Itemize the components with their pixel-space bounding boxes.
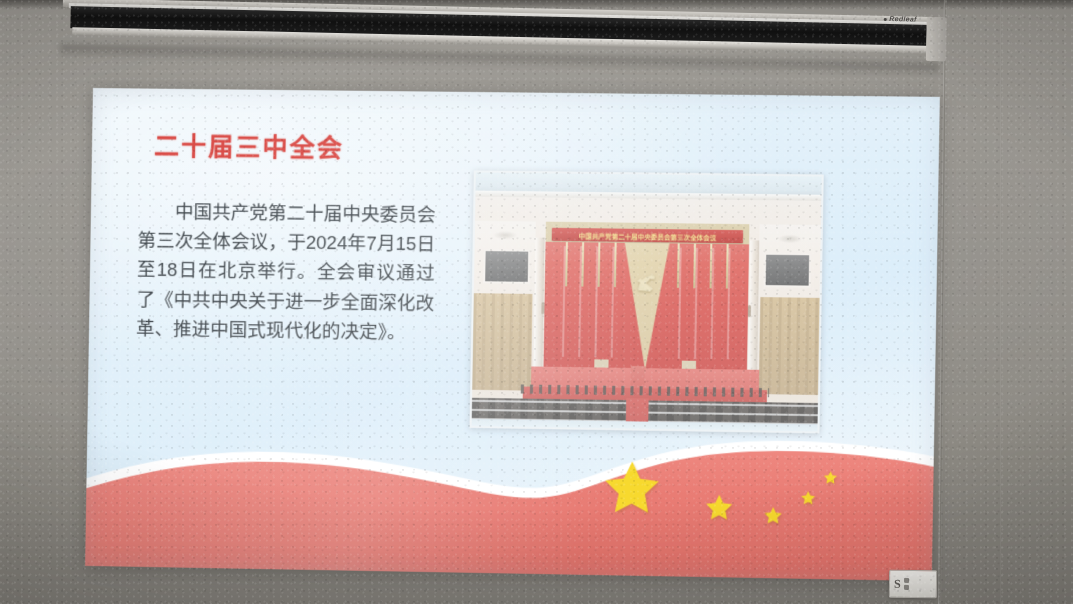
photo-left-curtain	[472, 293, 532, 390]
wall-seam-secondary	[1000, 0, 1002, 604]
star-icon-small-4	[823, 470, 839, 485]
photo-left-wall-ornament	[488, 230, 523, 241]
photo-banner-text: 中国共产党第二十届中央委员会第三次全体会议	[579, 230, 717, 241]
brand-dot-icon	[883, 18, 886, 21]
star-icon-small-2	[763, 505, 784, 526]
photo-room: 中国共产党第二十届中央委员会第三次全体会议	[472, 197, 822, 432]
hammer-and-sickle-icon	[632, 271, 661, 298]
photo-stage-table-right	[682, 361, 696, 369]
plate-dot-icon	[904, 578, 909, 583]
star-icon-small-1	[704, 492, 735, 523]
plate-dot-icon	[904, 585, 909, 590]
brand-text: Redleaf	[889, 16, 917, 24]
photo-right-door-handle	[748, 305, 751, 317]
photo-scene: Redleaf 二十届三中全会 中国共产党第二十届中央委员会第三次全体会议，于2…	[0, 0, 1073, 604]
plate-glyph-icon: S	[894, 578, 901, 590]
screen-brand-label: Redleaf	[883, 16, 917, 24]
star-icon-large	[600, 456, 664, 520]
photo-left-wall-panel	[483, 249, 530, 284]
slide-body-text: 中国共产党第二十届中央委员会第三次全体会议，于2024年7月15日至18日在北京…	[136, 197, 436, 347]
photo-right-wall-ornament	[773, 234, 808, 245]
star-icon-small-3	[800, 490, 817, 506]
slide-title: 二十届三中全会	[154, 127, 344, 165]
photo-stage-backdrop: 中国共产党第二十届中央委员会第三次全体会议	[543, 222, 749, 372]
great-hall-photo: 中国共产党第二十届中央委员会第三次全体会议	[470, 170, 824, 433]
projected-slide[interactable]: 二十届三中全会 中国共产党第二十届中央委员会第三次全体会议，于2024年7月15…	[85, 88, 940, 581]
photo-right-wall-panel	[764, 253, 812, 288]
photo-stage-table-left	[594, 359, 608, 367]
slide-star-group	[600, 446, 867, 543]
photo-meeting-banner: 中国共产党第二十届中央委员会第三次全体会议	[552, 228, 743, 244]
slide-canvas: 二十届三中全会 中国共产党第二十届中央委员会第三次全体会议，于2024年7月15…	[85, 88, 940, 581]
plate-dots	[904, 578, 909, 590]
wall-control-plate[interactable]: S	[889, 570, 937, 599]
screen-endcap	[926, 17, 947, 61]
photo-right-curtain	[759, 297, 820, 395]
